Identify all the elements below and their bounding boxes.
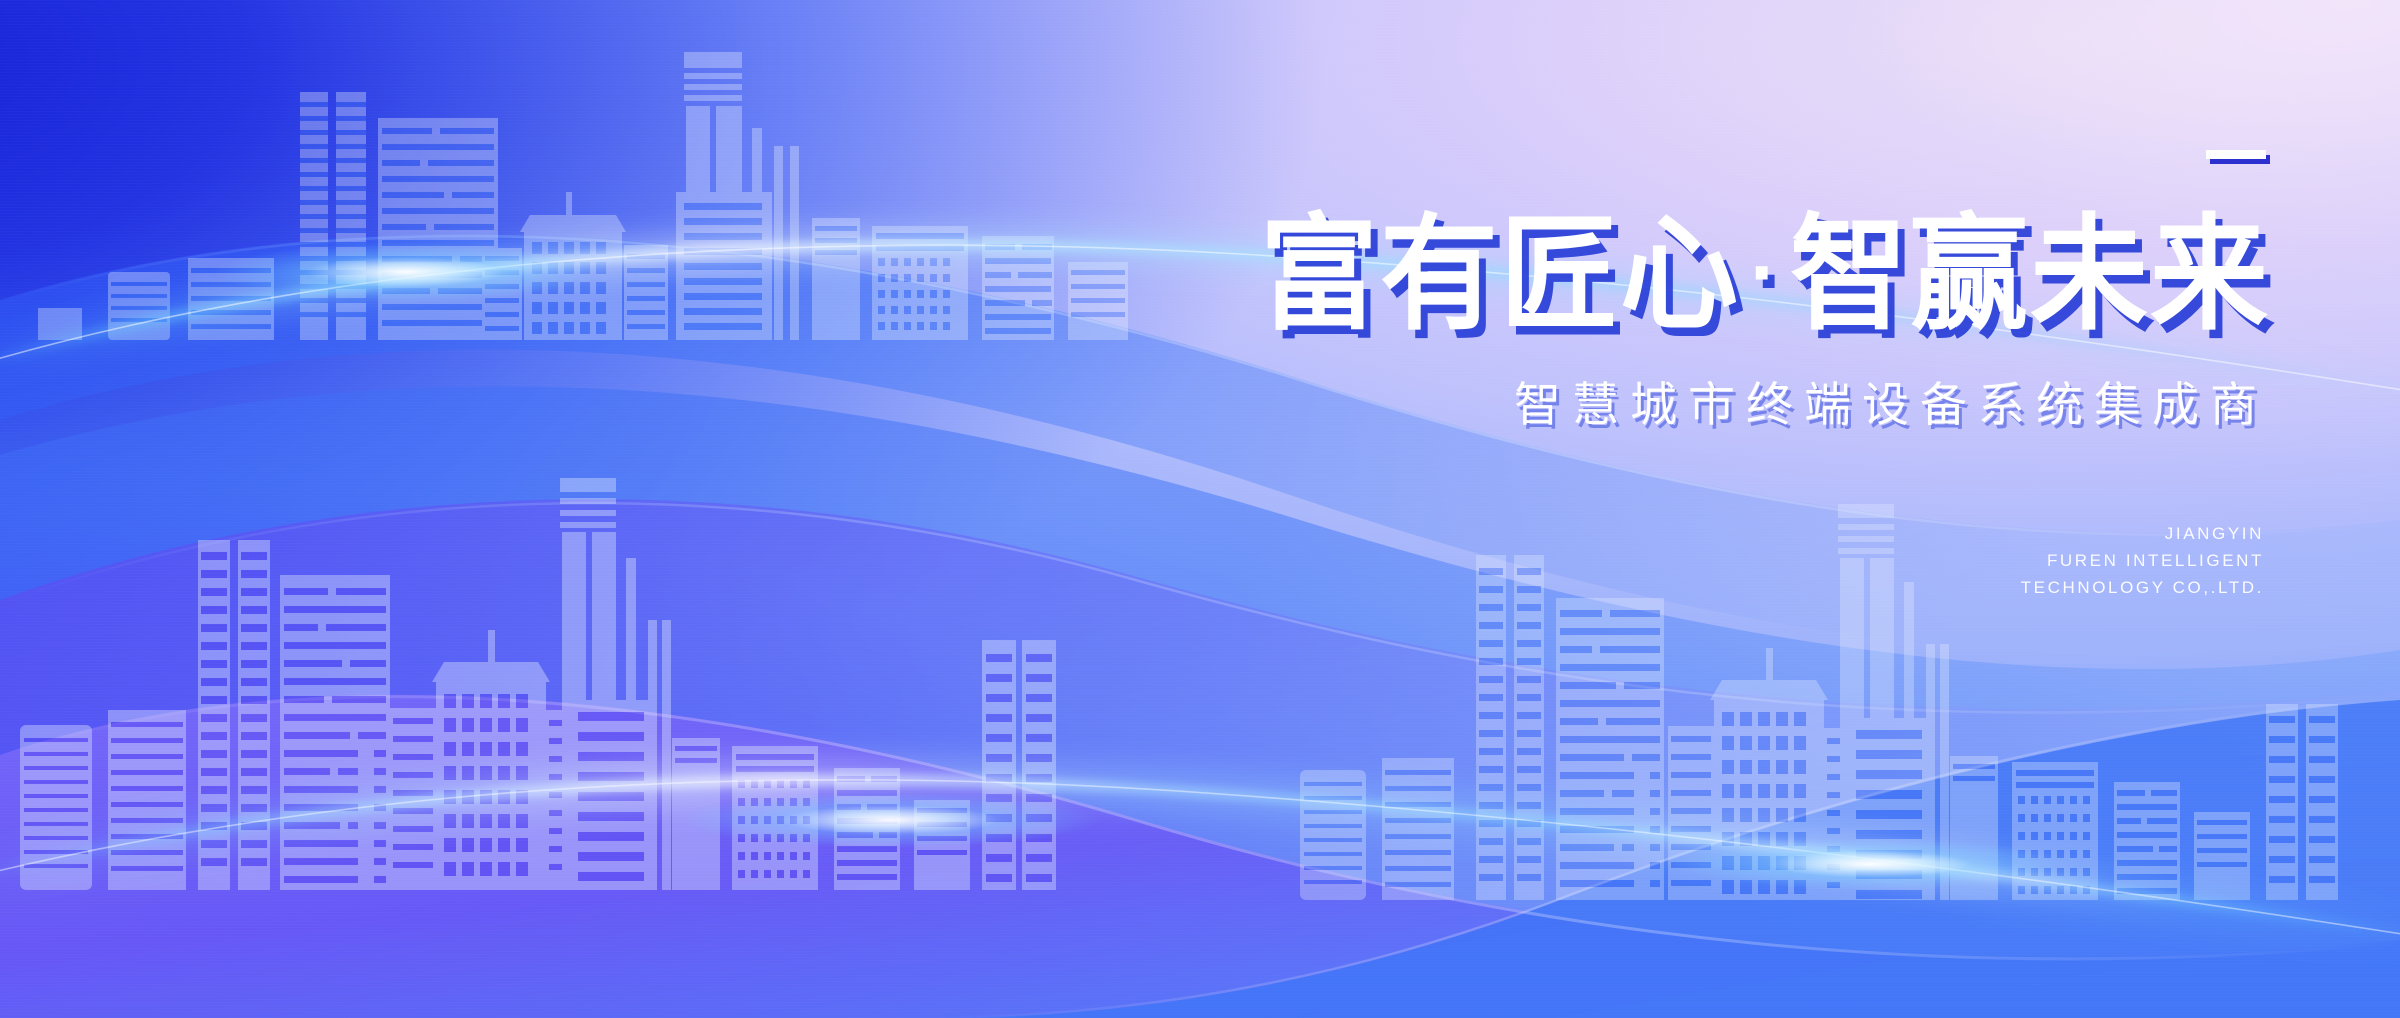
company-line-2: FUREN INTELLIGENT (1150, 548, 2264, 575)
company-name-block: JIANGYIN FUREN INTELLIGENT TECHNOLOGY CO… (1150, 521, 2270, 602)
city-skyline-top-left (30, 40, 1210, 340)
city-skyline-bottom-left (0, 470, 1080, 890)
company-line-3: TECHNOLOGY CO,.LTD. (1150, 575, 2264, 602)
headline-left: 富有匠心 (1260, 205, 1740, 345)
banner-text-block: 富有匠心·智赢未来 智慧城市终端设备系统集成商 JIANGYIN FUREN I… (1150, 150, 2270, 602)
banner-canvas: 富有匠心·智赢未来 智慧城市终端设备系统集成商 JIANGYIN FUREN I… (0, 0, 2400, 1018)
headline-separator-dot: · (1740, 222, 1790, 322)
accent-rule-decoration (2206, 150, 2266, 159)
page-subtitle: 智慧城市终端设备系统集成商 (1150, 366, 2270, 435)
page-title: 富有匠心·智赢未来 (1150, 212, 2270, 337)
headline-right: 智赢未来 (1790, 205, 2270, 345)
company-line-1: JIANGYIN (1150, 521, 2264, 548)
